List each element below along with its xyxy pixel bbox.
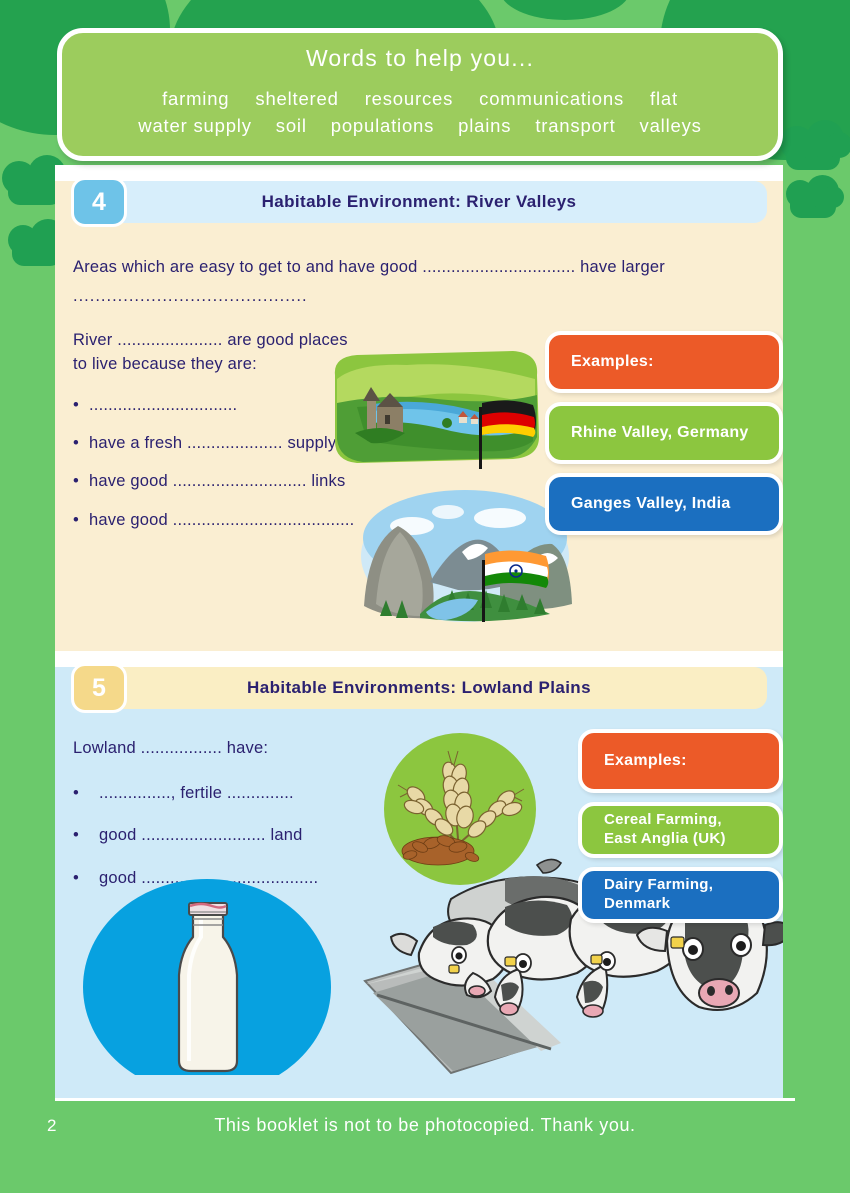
section4-bullet-list: •............................... •have a…: [73, 395, 355, 532]
section4-intro-line1: Areas which are easy to get to and have …: [73, 253, 757, 282]
section4-number-badge: 4: [71, 177, 127, 227]
list-item-label: ...............................: [89, 395, 237, 416]
word-bank-row-2: water supply soil populations plains tra…: [80, 113, 760, 140]
word-chip[interactable]: transport: [535, 113, 615, 140]
section4-intro: Areas which are easy to get to and have …: [73, 253, 757, 311]
worksheet-card: 4 Habitable Environment: River Valleys A…: [55, 165, 783, 1098]
page-footer: 2 This booklet is not to be photocopied.…: [0, 1098, 850, 1193]
section5-title: Habitable Environments: Lowland Plains: [71, 678, 767, 698]
word-chip[interactable]: soil: [276, 113, 307, 140]
section4-header: 4 Habitable Environment: River Valleys: [71, 181, 767, 223]
word-chip[interactable]: plains: [458, 113, 511, 140]
section-river-valleys: 4 Habitable Environment: River Valleys A…: [55, 181, 783, 651]
list-item-label: good .......................... land: [89, 825, 302, 846]
list-item: •have good ............................ …: [73, 471, 355, 492]
section4-text-column: River ...................... are good pl…: [55, 329, 355, 549]
word-chip[interactable]: communications: [479, 86, 624, 113]
example-line-2: Denmark: [604, 895, 713, 914]
copyright-note: This booklet is not to be photocopied. T…: [0, 1115, 850, 1136]
footer-divider: [55, 1098, 795, 1101]
list-item: •..............., fertile ..............: [73, 783, 355, 804]
example-pill-rhine[interactable]: Rhine Valley, Germany: [545, 402, 783, 464]
bullet-dot-icon: •: [73, 510, 89, 531]
example-pill-cereal-farming[interactable]: Cereal Farming, East Anglia (UK): [578, 802, 783, 858]
section5-header: 5 Habitable Environments: Lowland Plains: [71, 667, 767, 709]
example-pill-ganges[interactable]: Ganges Valley, India: [545, 473, 783, 535]
list-item: •have good .............................…: [73, 510, 355, 531]
rhine-valley-illustration: [327, 345, 547, 475]
word-bank-panel: Words to help you... farming sheltered r…: [57, 28, 783, 161]
word-bank-row-1: farming sheltered resources communicatio…: [80, 86, 760, 113]
list-item-label: have good ............................ l…: [89, 471, 345, 492]
section4-intro-line2: ........................................…: [73, 282, 757, 311]
list-item-label: ..............., fertile ..............: [89, 783, 294, 804]
example-line-1: Dairy Farming,: [604, 876, 713, 895]
bullet-dot-icon: •: [73, 433, 89, 454]
bullet-dot-icon: •: [73, 471, 89, 492]
word-chip[interactable]: valleys: [640, 113, 702, 140]
section4-title: Habitable Environment: River Valleys: [71, 192, 767, 212]
word-chip[interactable]: water supply: [138, 113, 251, 140]
bush-right-1: [786, 140, 840, 170]
example-pill-dairy-farming[interactable]: Dairy Farming, Denmark: [578, 867, 783, 923]
example-line-1: Cereal Farming,: [604, 811, 726, 830]
bullet-dot-icon: •: [73, 783, 89, 804]
milk-bottle-illustration: [77, 875, 337, 1075]
section4-examples: Examples: Rhine Valley, Germany Ganges V…: [545, 331, 783, 535]
bullet-dot-icon: •: [73, 825, 89, 846]
section4-lead: River ...................... are good pl…: [73, 329, 355, 377]
section5-number-badge: 5: [71, 663, 127, 713]
section5-lead: Lowland ................. have:: [73, 737, 355, 761]
list-item: •good .......................... land: [73, 825, 355, 846]
list-item-label: have a fresh .................... supply: [89, 433, 336, 454]
bg-blob-topcenter-small: [500, 0, 630, 20]
list-item: •...............................: [73, 395, 355, 416]
word-chip[interactable]: populations: [331, 113, 434, 140]
bush-left-1: [8, 175, 62, 205]
examples-label-pill: Examples:: [578, 729, 783, 793]
bullet-dot-icon: •: [73, 395, 89, 416]
word-chip[interactable]: flat: [650, 86, 678, 113]
section5-bullet-list: •..............., fertile ..............…: [73, 783, 355, 889]
section-lowland-plains: 5 Habitable Environments: Lowland Plains…: [55, 667, 783, 1098]
word-chip[interactable]: sheltered: [255, 86, 338, 113]
word-chip[interactable]: resources: [365, 86, 453, 113]
word-bank-title: Words to help you...: [80, 45, 760, 86]
word-chip[interactable]: farming: [162, 86, 229, 113]
list-item-label: have good ..............................…: [89, 510, 354, 531]
bush-right-2: [790, 192, 836, 218]
example-line-2: East Anglia (UK): [604, 830, 726, 849]
section5-examples: Examples: Cereal Farming, East Anglia (U…: [578, 729, 783, 923]
examples-label-pill: Examples:: [545, 331, 783, 393]
list-item: •have a fresh .................... suppl…: [73, 433, 355, 454]
